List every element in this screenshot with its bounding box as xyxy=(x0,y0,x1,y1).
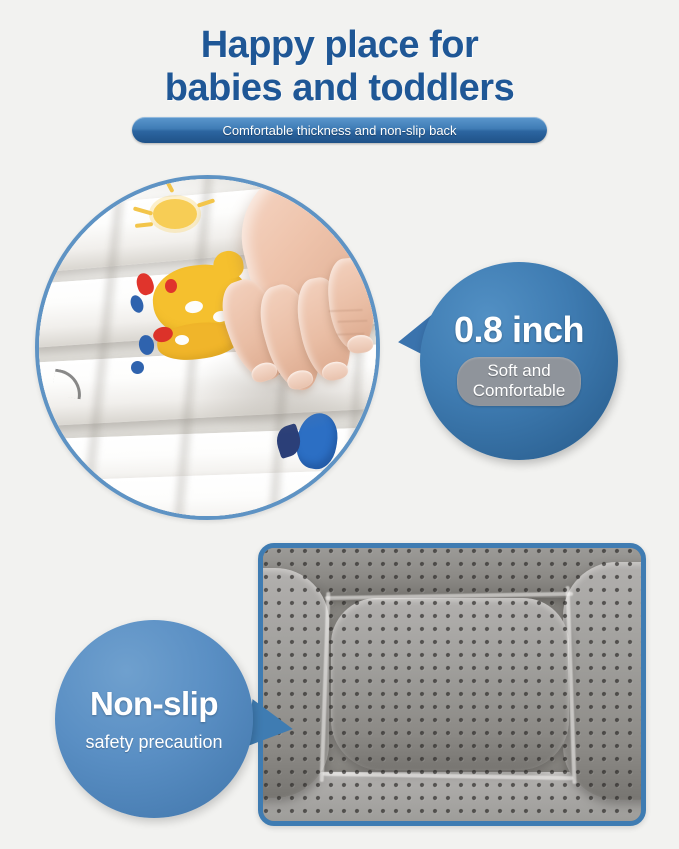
nonslip-badge-disc: Non-slip safety precaution xyxy=(55,620,253,818)
nonslip-backing-photo xyxy=(258,543,646,826)
red-print-accent xyxy=(165,279,177,293)
fingertip xyxy=(346,334,374,355)
thickness-badge-disc: 0.8 inch Soft and Comfortable xyxy=(420,262,618,460)
page-title: Happy place for babies and toddlers xyxy=(0,24,679,109)
blue-print-accent xyxy=(131,361,144,374)
thickness-pill-line2: Comfortable xyxy=(473,381,566,400)
nonslip-dot-texture xyxy=(263,548,641,821)
subtitle-text: Comfortable thickness and non-slip back xyxy=(222,123,456,138)
subtitle-banner: Comfortable thickness and non-slip back xyxy=(132,117,547,143)
print-spot xyxy=(175,335,189,345)
page-title-line2: babies and toddlers xyxy=(0,67,679,110)
product-feature-banner: Happy place for babies and toddlers Comf… xyxy=(0,0,679,849)
page-title-line1: Happy place for xyxy=(201,24,479,66)
thickness-badge: 0.8 inch Soft and Comfortable xyxy=(420,262,618,460)
badge-pointer-icon xyxy=(246,699,296,753)
nonslip-badge: Non-slip safety precaution xyxy=(55,620,267,818)
thickness-value: 0.8 inch xyxy=(454,312,584,348)
nonslip-headline: Non-slip xyxy=(90,687,218,720)
nonslip-subtext: safety precaution xyxy=(85,733,222,751)
thickness-pill-line1: Soft and xyxy=(473,361,566,380)
mattress-thickness-photo xyxy=(35,175,380,520)
photo-scene-top xyxy=(35,175,380,520)
thickness-pill: Soft and Comfortable xyxy=(457,357,582,406)
